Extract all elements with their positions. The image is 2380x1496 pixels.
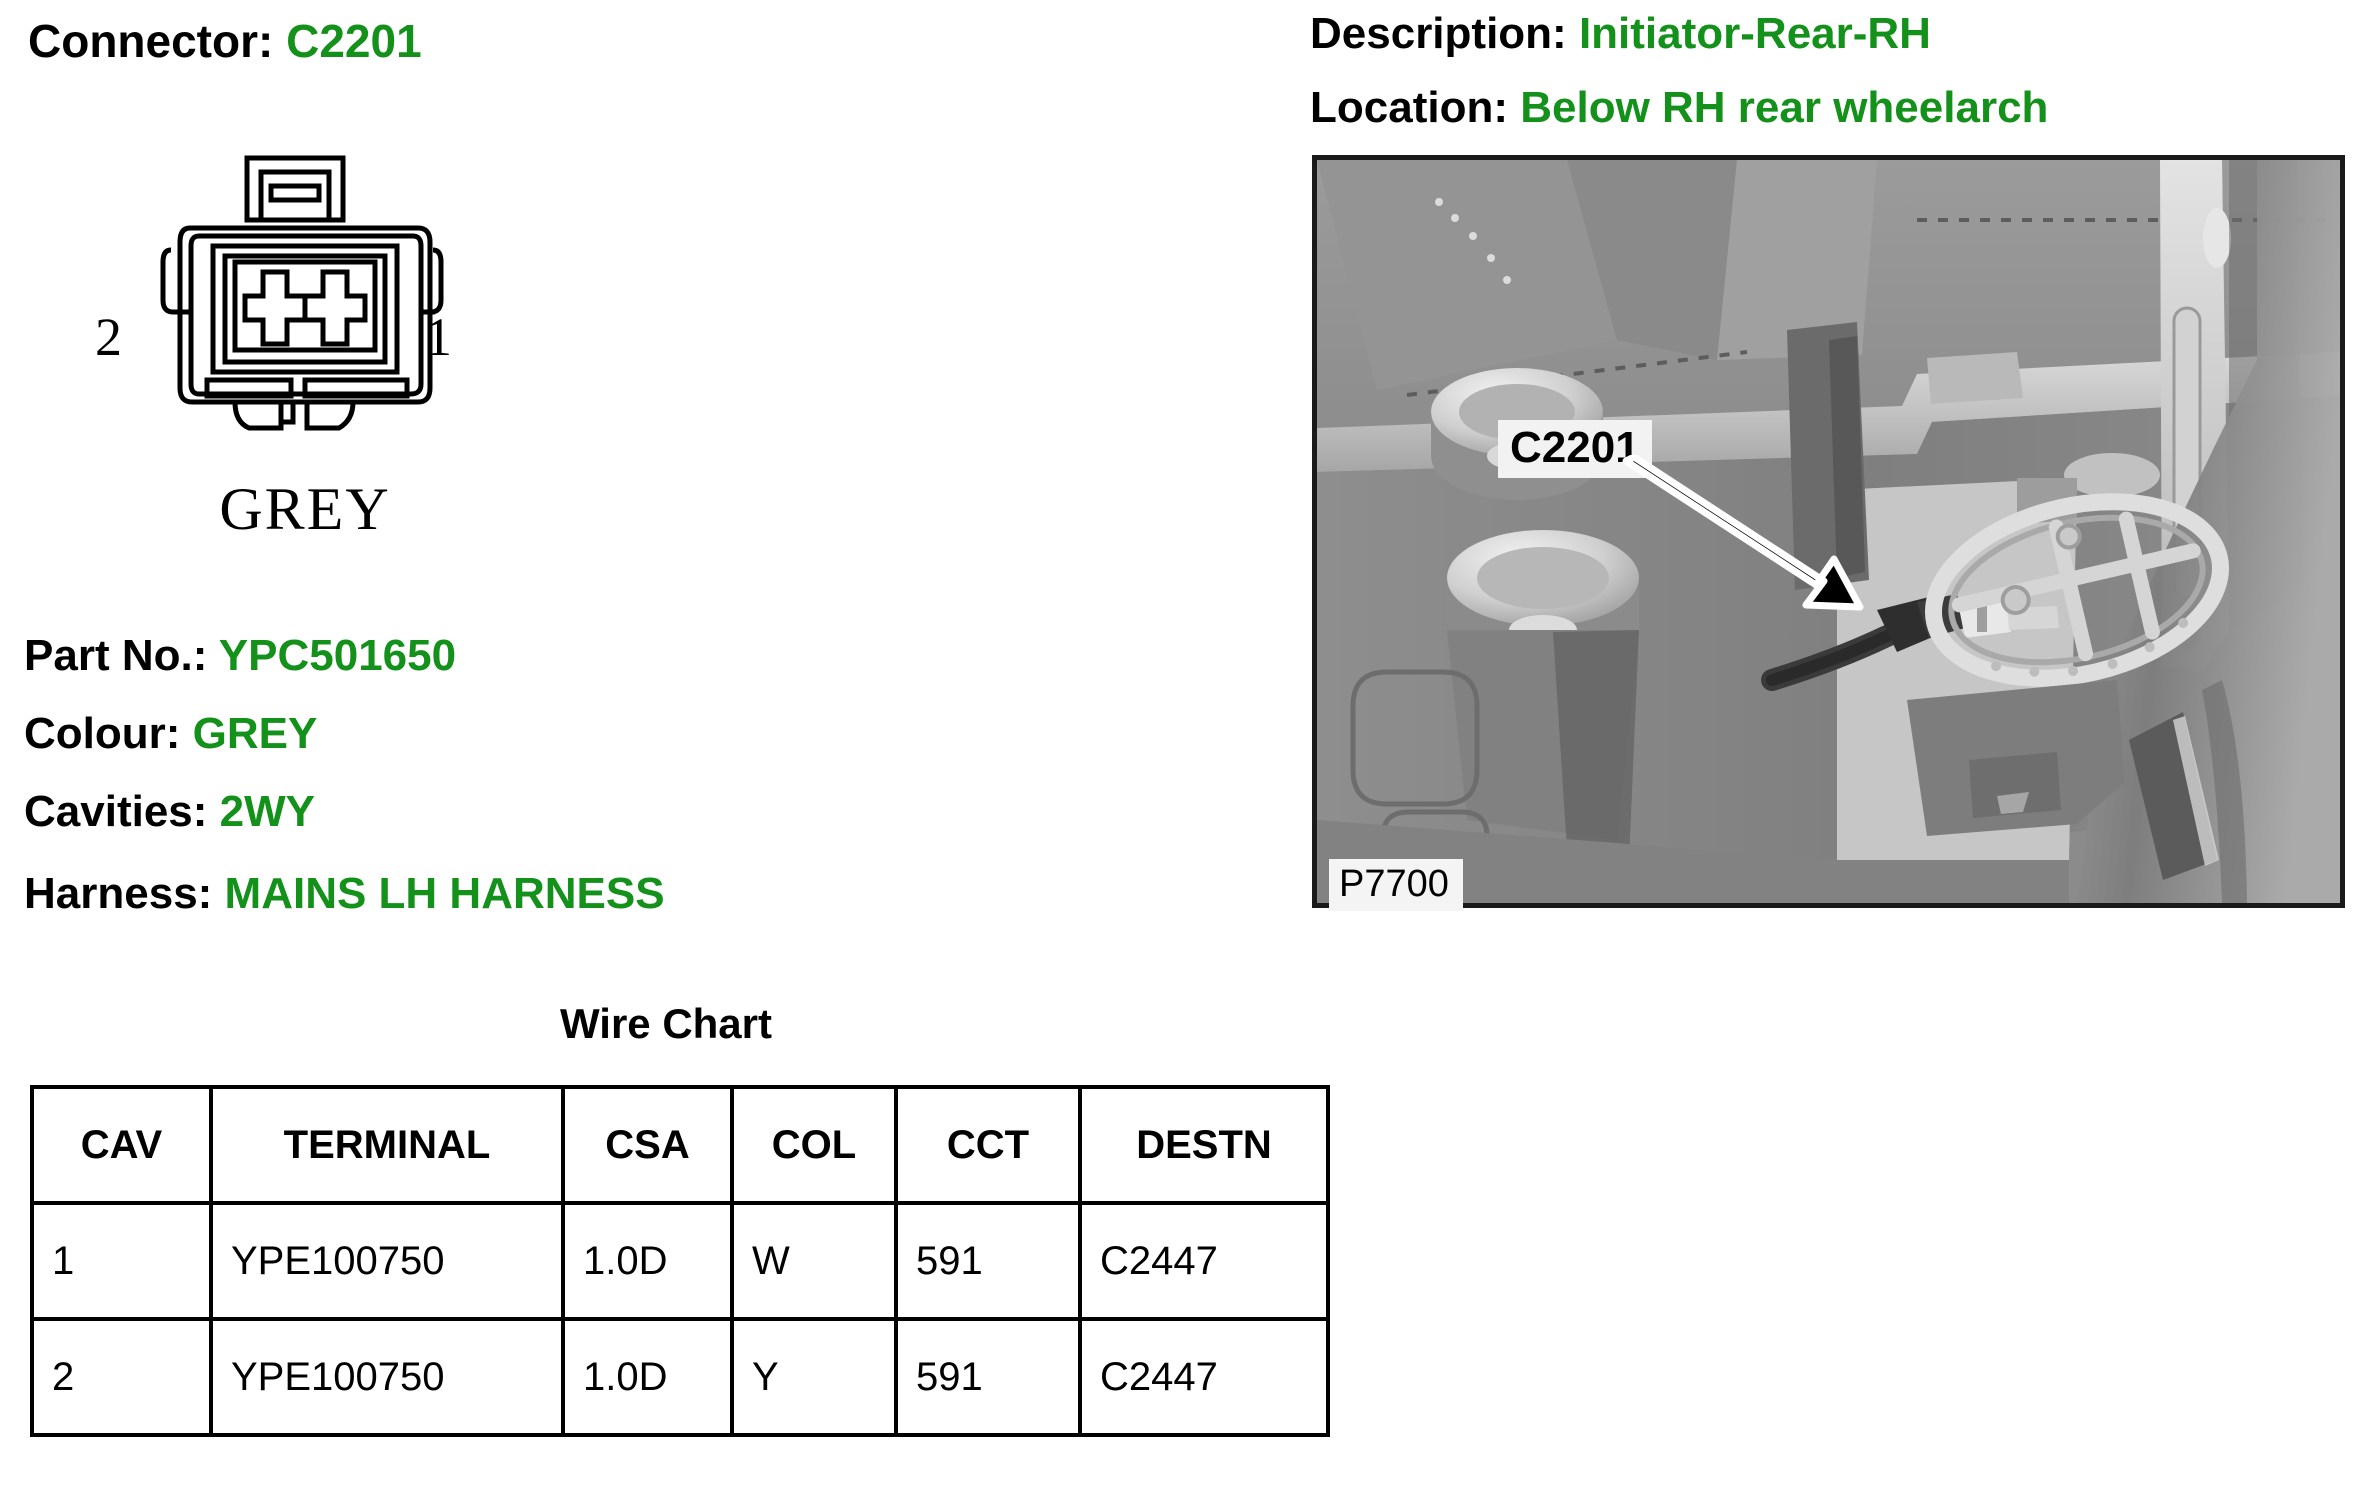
cell-cct: 591 <box>896 1319 1080 1435</box>
cell-cav: 2 <box>32 1319 211 1435</box>
table-row: 1 YPE100750 1.0D W 591 C2447 <box>32 1203 1328 1319</box>
description-value: Initiator-Rear-RH <box>1579 9 1931 58</box>
description-row: Description: Initiator-Rear-RH <box>1310 12 1931 56</box>
cavities-value: 2WY <box>220 787 315 836</box>
harness-label: Harness: <box>24 869 212 918</box>
connector-label: Connector: <box>28 15 273 67</box>
wire-chart-table: CAV TERMINAL CSA COL CCT DESTN 1 YPE1007… <box>30 1085 1330 1437</box>
connector-pinout-diagram: 2 1 <box>95 150 515 570</box>
photo-illustration <box>1317 160 2340 903</box>
part-no-value: YPC501650 <box>219 631 456 680</box>
cell-terminal: YPE100750 <box>211 1203 563 1319</box>
cell-terminal: YPE100750 <box>211 1319 563 1435</box>
spec-cavities-row: Cavities: 2WY <box>24 790 315 834</box>
connector-row: Connector: C2201 <box>28 18 422 64</box>
connector-value: C2201 <box>286 15 422 67</box>
cell-col: Y <box>732 1319 896 1435</box>
spec-colour-row: Colour: GREY <box>24 712 317 756</box>
column-header-cct: CCT <box>896 1087 1080 1203</box>
pin-number-2-label: 2 <box>95 310 122 364</box>
column-header-terminal: TERMINAL <box>211 1087 563 1203</box>
location-label: Location: <box>1310 83 1508 132</box>
colour-value: GREY <box>193 709 318 758</box>
column-header-destn: DESTN <box>1080 1087 1328 1203</box>
cavities-label: Cavities: <box>24 787 207 836</box>
cell-col: W <box>732 1203 896 1319</box>
column-header-col: COL <box>732 1087 896 1203</box>
spec-part-no-row: Part No.: YPC501650 <box>24 634 456 678</box>
cell-destn: C2447 <box>1080 1319 1328 1435</box>
connector-face-icon <box>95 150 515 480</box>
harness-value: MAINS LH HARNESS <box>225 869 665 918</box>
table-row: 2 YPE100750 1.0D Y 591 C2447 <box>32 1319 1328 1435</box>
location-value: Below RH rear wheelarch <box>1520 83 2048 132</box>
photo-figure-id-label: P7700 <box>1329 859 1463 911</box>
table-header-row: CAV TERMINAL CSA COL CCT DESTN <box>32 1087 1328 1203</box>
cell-csa: 1.0D <box>563 1203 732 1319</box>
connector-location-photo <box>1312 155 2345 908</box>
part-no-label: Part No.: <box>24 631 207 680</box>
connector-colour-caption: GREY <box>95 475 515 544</box>
cell-csa: 1.0D <box>563 1319 732 1435</box>
column-header-cav: CAV <box>32 1087 211 1203</box>
location-row: Location: Below RH rear wheelarch <box>1310 86 2048 130</box>
cell-destn: C2447 <box>1080 1203 1328 1319</box>
cell-cct: 591 <box>896 1203 1080 1319</box>
description-label: Description: <box>1310 9 1567 58</box>
photo-callout-label: C2201 <box>1498 420 1652 478</box>
pin-number-1-label: 1 <box>425 310 452 364</box>
wire-chart-title: Wire Chart <box>30 1000 1302 1048</box>
spec-harness-row: Harness: MAINS LH HARNESS <box>24 872 665 916</box>
colour-label: Colour: <box>24 709 180 758</box>
cell-cav: 1 <box>32 1203 211 1319</box>
column-header-csa: CSA <box>563 1087 732 1203</box>
